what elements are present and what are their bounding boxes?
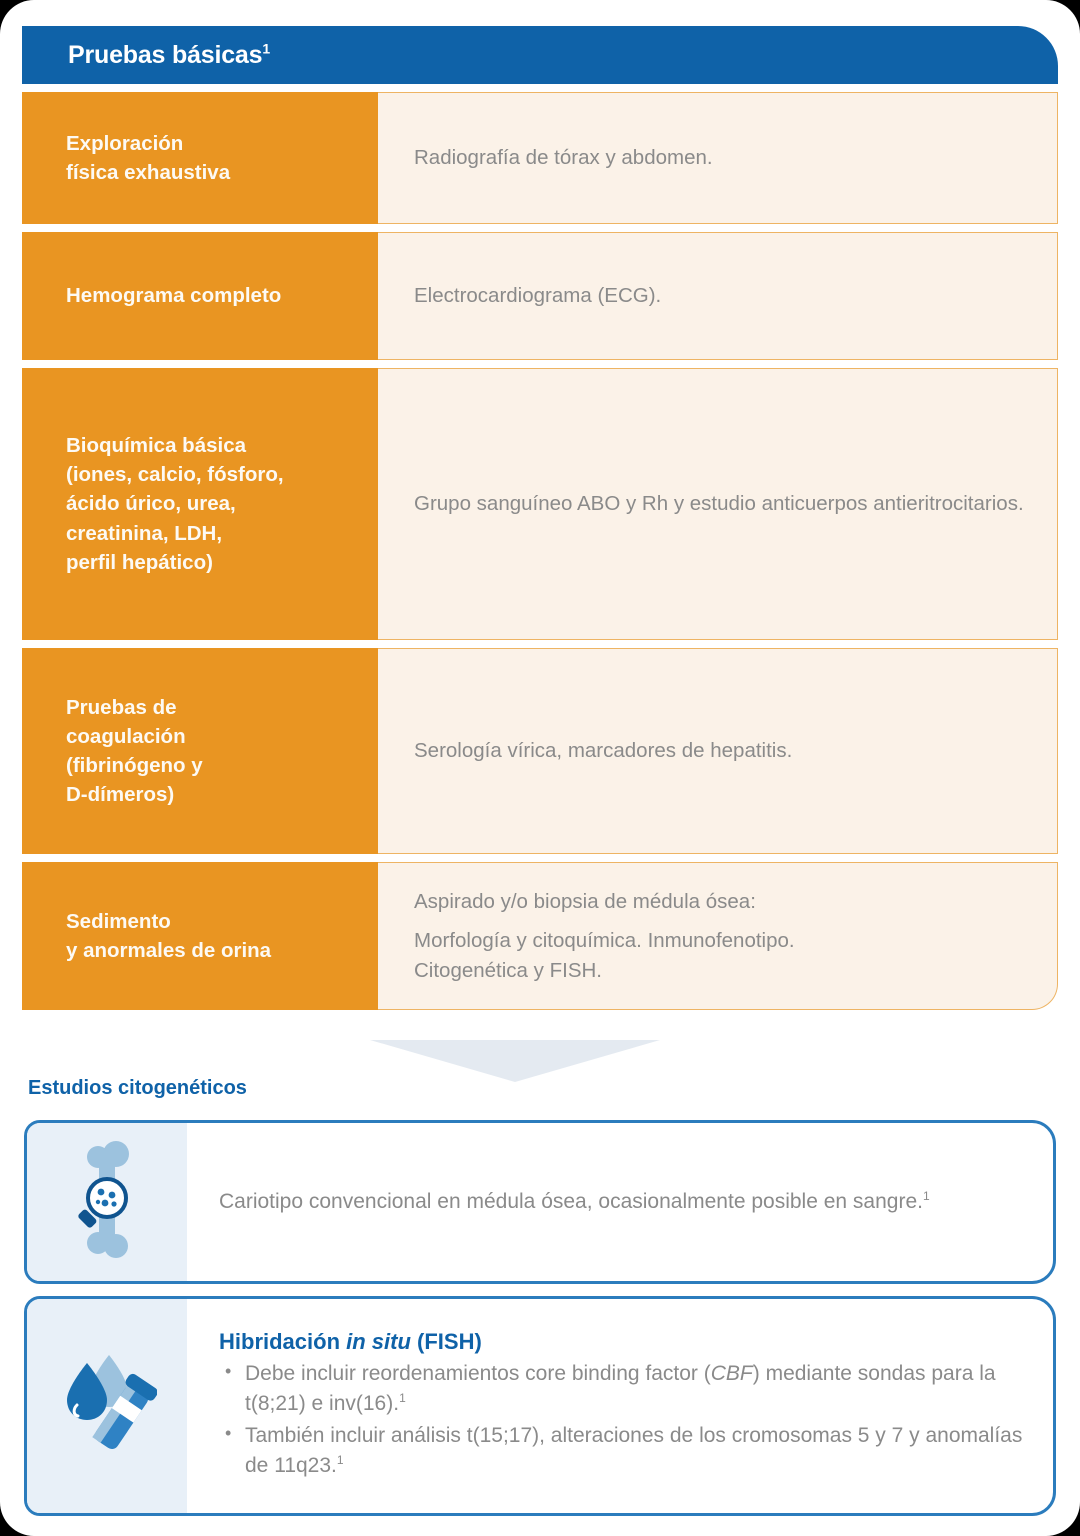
test-value-text: Grupo sanguíneo ABO y Rh y estudio antic… xyxy=(414,489,1024,519)
list-item: Debe incluir reordenamientos core bindin… xyxy=(219,1359,1023,1419)
bullet-footnote-marker: 1 xyxy=(337,1453,344,1467)
test-label-text: Pruebas de coagulación (fibrinógeno y D-… xyxy=(66,693,203,809)
test-label-text: Bioquímica básica (iones, calcio, fósfor… xyxy=(66,431,284,577)
fish-card: Hibridación in situ (FISH) Debe incluir … xyxy=(24,1296,1056,1516)
karyotype-icon-panel xyxy=(27,1123,187,1281)
fish-heading-italic: in situ xyxy=(346,1329,411,1354)
list-item: También incluir análisis t(15;17), alter… xyxy=(219,1421,1023,1481)
karyotype-card: Cariotipo convencional en médula ósea, o… xyxy=(24,1120,1056,1284)
arrow-down-icon xyxy=(370,1040,660,1082)
test-value-hemograma: Electrocardiograma (ECG). xyxy=(378,232,1058,360)
test-label-exploracion-fisica: Exploración física exhaustiva xyxy=(22,92,378,224)
table-row: Pruebas de coagulación (fibrinógeno y D-… xyxy=(22,648,1058,854)
blood-drop-test-tube-icon xyxy=(57,1349,157,1464)
test-value-line-2: Morfología y citoquímica. Inmunofenotipo… xyxy=(414,926,795,985)
test-label-sedimento: Sedimento y anormales de orina xyxy=(22,862,378,1010)
karyotype-footnote-marker: 1 xyxy=(923,1189,930,1203)
test-value-text: Serología vírica, marcadores de hepatiti… xyxy=(414,736,792,766)
basic-tests-header: Pruebas básicas1 xyxy=(22,26,1058,84)
table-row: Bioquímica básica (iones, calcio, fósfor… xyxy=(22,368,1058,640)
test-label-coagulacion: Pruebas de coagulación (fibrinógeno y D-… xyxy=(22,648,378,854)
header-footnote-marker: 1 xyxy=(262,40,270,56)
test-label-bioquimica: Bioquímica básica (iones, calcio, fósfor… xyxy=(22,368,378,640)
page-title: Pruebas básicas1 xyxy=(68,41,270,70)
karyotype-text-value: Cariotipo convencional en médula ósea, o… xyxy=(219,1190,923,1213)
fish-heading: Hibridación in situ (FISH) xyxy=(219,1329,1023,1355)
test-value-sedimento: Aspirado y/o biopsia de médula ósea: Mor… xyxy=(378,862,1058,1010)
karyotype-text-panel: Cariotipo convencional en médula ósea, o… xyxy=(187,1123,1053,1281)
basic-tests-header-label: Pruebas básicas xyxy=(68,41,262,69)
test-label-text: Sedimento y anormales de orina xyxy=(66,907,271,965)
test-value-coagulacion: Serología vírica, marcadores de hepatiti… xyxy=(378,648,1058,854)
fish-heading-before: Hibridación xyxy=(219,1329,346,1354)
table-row: Exploración física exhaustiva Radiografí… xyxy=(22,92,1058,224)
test-label-text: Hemograma completo xyxy=(66,281,281,310)
bullet-text-before: También incluir análisis t(15;17), alter… xyxy=(245,1424,1022,1477)
cytogenetics-section-title: Estudios citogenéticos xyxy=(28,1077,247,1100)
test-value-text: Electrocardiograma (ECG). xyxy=(414,281,661,311)
test-label-text: Exploración física exhaustiva xyxy=(66,129,230,187)
infographic-page: Pruebas básicas1 Exploración física exha… xyxy=(0,0,1080,1536)
test-label-hemograma: Hemograma completo xyxy=(22,232,378,360)
test-value-exploracion-fisica: Radiografía de tórax y abdomen. xyxy=(378,92,1058,224)
test-value-line-1: Aspirado y/o biopsia de médula ósea: xyxy=(414,887,795,917)
bullet-footnote-marker: 1 xyxy=(399,1391,406,1405)
test-value-text: Radiografía de tórax y abdomen. xyxy=(414,143,713,173)
basic-tests-block: Pruebas básicas1 Exploración física exha… xyxy=(22,26,1058,1010)
test-value-bioquimica: Grupo sanguíneo ABO y Rh y estudio antic… xyxy=(378,368,1058,640)
karyotype-text: Cariotipo convencional en médula ósea, o… xyxy=(219,1186,1023,1218)
fish-bullet-list: Debe incluir reordenamientos core bindin… xyxy=(219,1359,1023,1482)
table-row: Hemograma completo Electrocardiograma (E… xyxy=(22,232,1058,360)
fish-icon-panel xyxy=(27,1299,187,1513)
bone-magnifier-icon xyxy=(72,1140,142,1265)
bullet-text-before: Debe incluir reordenamientos core bindin… xyxy=(245,1362,711,1385)
table-row: Sedimento y anormales de orina Aspirado … xyxy=(22,862,1058,1010)
fish-heading-after: (FISH) xyxy=(411,1329,482,1354)
bullet-text-italic: CBF xyxy=(711,1362,753,1385)
fish-text-panel: Hibridación in situ (FISH) Debe incluir … xyxy=(187,1299,1053,1513)
